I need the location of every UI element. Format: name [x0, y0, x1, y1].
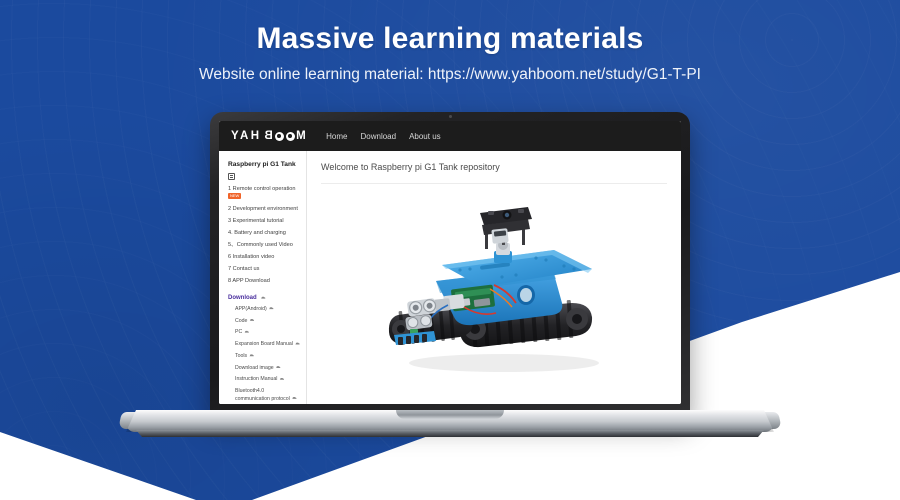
- download-item-tools[interactable]: Tools: [228, 353, 300, 360]
- sidebar-item-label: 1 Remote control operation: [228, 186, 295, 192]
- download-item-label: PC: [235, 329, 242, 335]
- content-divider: [321, 183, 667, 184]
- download-item-pc[interactable]: PC: [228, 329, 300, 336]
- logo-text-part-1: YAH: [231, 130, 261, 142]
- sidebar-item-app-download[interactable]: 8 APP Download: [228, 278, 300, 286]
- site-body: Raspberry pi G1 Tank 1 Remote control op…: [219, 151, 681, 404]
- download-item-label: Code: [235, 318, 247, 324]
- download-item-instruction-manual[interactable]: Instruction Manual: [228, 376, 300, 383]
- nav-link-download[interactable]: Download: [360, 132, 396, 141]
- download-item-label: APP(Android): [235, 306, 267, 312]
- download-icon: [295, 342, 300, 346]
- page-title: Massive learning materials: [0, 22, 900, 56]
- robot-tank-image: [376, 207, 626, 382]
- laptop-notch: [396, 410, 504, 419]
- download-icon: [244, 330, 249, 334]
- nav-link-about-us[interactable]: About us: [409, 132, 441, 141]
- download-item-label: Expansion Board Manual: [235, 341, 293, 347]
- laptop-base-edge: [130, 430, 770, 437]
- laptop-lid: YAHBM Home Download About us Raspberry p…: [210, 112, 690, 418]
- download-icon: [249, 353, 254, 357]
- logo-text-part-2: B: [262, 130, 273, 142]
- laptop-screen: YAHBM Home Download About us Raspberry p…: [219, 121, 681, 404]
- sidebar-download-heading[interactable]: Download: [228, 295, 300, 301]
- content-heading: Welcome to Raspberry pi G1 Tank reposito…: [321, 162, 667, 172]
- download-item-download-image[interactable]: Download image: [228, 365, 300, 372]
- sidebar-toc-list: 1 Remote control operation NEW 2 Develop…: [228, 186, 300, 286]
- download-item-code[interactable]: Code: [228, 318, 300, 325]
- yahboom-logo[interactable]: YAHBM: [231, 130, 308, 142]
- download-icon: [292, 396, 297, 400]
- logo-text-part-3: M: [296, 130, 308, 142]
- sidebar-item-contact-us[interactable]: 7 Contact us: [228, 266, 300, 274]
- new-badge: NEW: [228, 193, 241, 199]
- nav-links: Home Download About us: [326, 132, 441, 141]
- logo-eye-left-icon: [275, 132, 284, 141]
- site-sidebar[interactable]: Raspberry pi G1 Tank 1 Remote control op…: [219, 151, 307, 404]
- download-icon: [249, 318, 254, 322]
- download-item-bluetooth-protocol[interactable]: Bluetooth4.0 communication protocol: [228, 388, 300, 403]
- download-heading-label: Download: [228, 295, 257, 301]
- download-item-expansion-board-manual[interactable]: Expansion Board Manual: [228, 341, 300, 348]
- sidebar-item-installation-video[interactable]: 6 Installation video: [228, 254, 300, 262]
- download-item-app-android[interactable]: APP(Android): [228, 306, 300, 313]
- download-icon: [279, 377, 284, 381]
- sidebar-item-remote-control[interactable]: 1 Remote control operation NEW: [228, 186, 300, 202]
- webcam-icon: [449, 115, 452, 118]
- download-item-label: Instruction Manual: [235, 376, 277, 382]
- page-subtitle: Website online learning material: https:…: [0, 66, 900, 84]
- download-icon: [261, 296, 266, 300]
- sidebar-title: Raspberry pi G1 Tank: [228, 161, 300, 170]
- sidebar-item-commonly-used-video[interactable]: 5、Commonly used Video: [228, 242, 300, 250]
- site-navbar: YAHBM Home Download About us: [219, 121, 681, 151]
- book-icon: [228, 173, 235, 180]
- logo-eye-right-icon: [286, 132, 295, 141]
- sidebar-item-experimental-tutorial[interactable]: 3 Experimental tutorial: [228, 218, 300, 226]
- website-viewport: YAHBM Home Download About us Raspberry p…: [219, 121, 681, 404]
- download-icon: [269, 306, 274, 310]
- sidebar-item-development-environment[interactable]: 2 Development environment: [228, 206, 300, 214]
- promo-banner: Massive learning materials Website onlin…: [0, 0, 900, 500]
- download-item-label: Bluetooth4.0 communication protocol: [235, 388, 290, 401]
- download-item-label: Download image: [235, 365, 274, 371]
- nav-link-home[interactable]: Home: [326, 132, 347, 141]
- sidebar-download-list: APP(Android) Code PC Expansion Board Man…: [228, 306, 300, 404]
- site-content: Welcome to Raspberry pi G1 Tank reposito…: [307, 151, 681, 404]
- sidebar-item-battery-and-charging[interactable]: 4. Battery and charging: [228, 230, 300, 238]
- laptop-mockup: YAHBM Home Download About us Raspberry p…: [126, 112, 774, 446]
- download-icon: [276, 365, 281, 369]
- download-item-label: Tools: [235, 353, 247, 359]
